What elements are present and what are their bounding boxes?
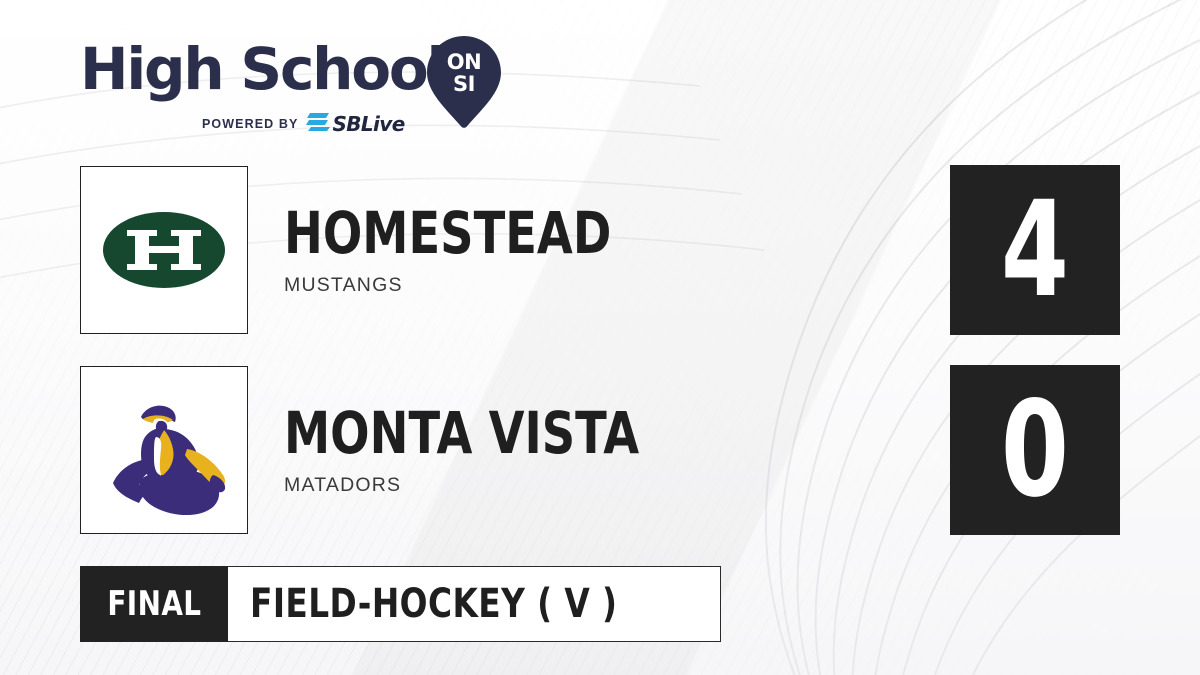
scoreboard-graphic: High School ON SI POWERED BY: [0, 0, 1200, 675]
homestead-h-oval-icon: [94, 180, 234, 320]
team-info-home: HOMESTEAD MUSTANGS: [284, 204, 950, 297]
sblive-light-part: ive: [373, 112, 405, 136]
team-name-home: HOMESTEAD: [284, 204, 817, 262]
score-value-home: 4: [1001, 184, 1069, 316]
team-mascot-away: MATADORS: [284, 474, 950, 497]
score-value-away: 0: [1001, 384, 1069, 516]
svg-text:ON: ON: [447, 50, 481, 74]
team-logo-box-away: [80, 366, 248, 534]
team-mascot-home: MUSTANGS: [284, 274, 950, 297]
game-state-badge: FINAL: [80, 566, 228, 642]
monta-vista-matador-icon: [89, 375, 239, 525]
score-box-home: 4: [950, 165, 1120, 335]
sblive-wordmark: SBLive: [332, 114, 404, 134]
svg-text:SI: SI: [453, 72, 475, 96]
sblive-logo: SBLive: [306, 110, 404, 137]
team-name-away: MONTA VISTA: [284, 404, 817, 462]
team-logo-box-home: [80, 166, 248, 334]
powered-by-label: POWERED BY: [202, 117, 298, 131]
game-state-label: FINAL: [107, 584, 201, 624]
brand-wordmark: High School: [80, 40, 444, 98]
status-bar: FINAL FIELD-HOCKEY ( V ): [80, 566, 721, 642]
brand-logo: High School ON SI POWERED BY: [80, 38, 510, 138]
sblive-bold-part: SBL: [332, 112, 373, 136]
on-si-pin-icon: ON SI: [425, 34, 503, 135]
sport-label: FIELD-HOCKEY ( V ): [250, 581, 617, 627]
team-row-home: HOMESTEAD MUSTANGS 4: [80, 165, 1120, 335]
powered-by-row: POWERED BY SBLive: [202, 110, 405, 137]
sblive-s-mark-icon: [306, 110, 330, 137]
team-row-away: MONTA VISTA MATADORS 0: [80, 365, 1120, 535]
score-box-away: 0: [950, 365, 1120, 535]
team-info-away: MONTA VISTA MATADORS: [284, 404, 950, 497]
sport-label-box: FIELD-HOCKEY ( V ): [228, 566, 721, 642]
